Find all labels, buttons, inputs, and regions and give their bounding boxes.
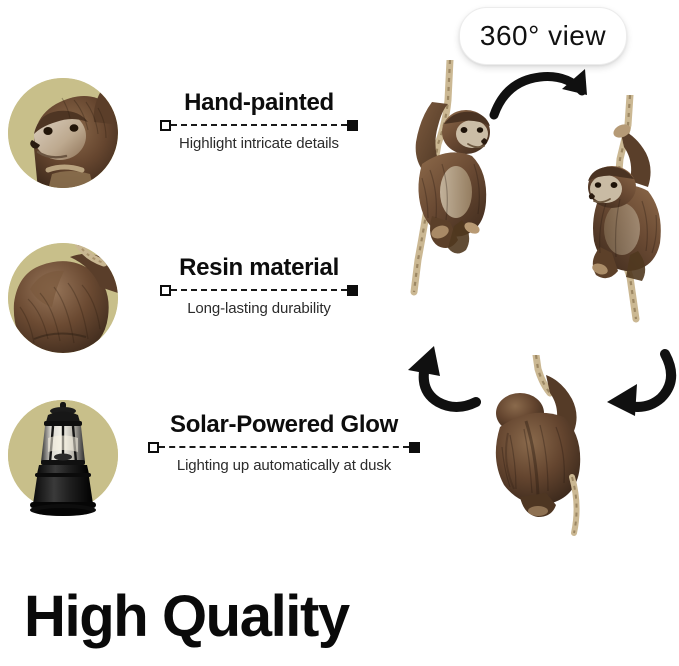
feature-subtitle: Highlight intricate details <box>160 135 358 152</box>
divider-open-square-icon <box>148 442 159 453</box>
divider-filled-square-icon <box>347 285 358 296</box>
feature-photo-sloth-head-closeup <box>8 78 118 188</box>
sloth-figure-front-left <box>388 60 508 315</box>
feature-photo-sloth-body-texture <box>8 243 118 353</box>
badge-360-view-text: 360° view <box>480 20 606 51</box>
feature-text-hand-painted: Hand-painted Highlight intricate details <box>160 90 358 152</box>
divider-open-square-icon <box>160 120 171 131</box>
feature-subtitle: Long-lasting durability <box>160 300 358 317</box>
sloth-figure-back <box>480 355 610 550</box>
page-headline: High Quality <box>24 588 349 646</box>
feature-divider <box>160 118 358 132</box>
feature-divider <box>160 283 358 297</box>
divider-dashed-line <box>171 289 347 291</box>
rotate-arrow-left-icon <box>396 340 486 425</box>
feature-title: Resin material <box>160 255 358 280</box>
divider-dashed-line <box>159 446 409 448</box>
sloth-figure-front-right <box>560 95 679 350</box>
feature-title: Hand-painted <box>160 90 358 115</box>
badge-360-view-label: 360° view <box>480 20 606 52</box>
divider-filled-square-icon <box>347 120 358 131</box>
feature-photo-solar-lantern <box>8 400 118 510</box>
product-360-gallery <box>380 55 679 555</box>
divider-dashed-line <box>171 124 347 126</box>
divider-open-square-icon <box>160 285 171 296</box>
feature-text-resin-material: Resin material Long-lasting durability <box>160 255 358 317</box>
